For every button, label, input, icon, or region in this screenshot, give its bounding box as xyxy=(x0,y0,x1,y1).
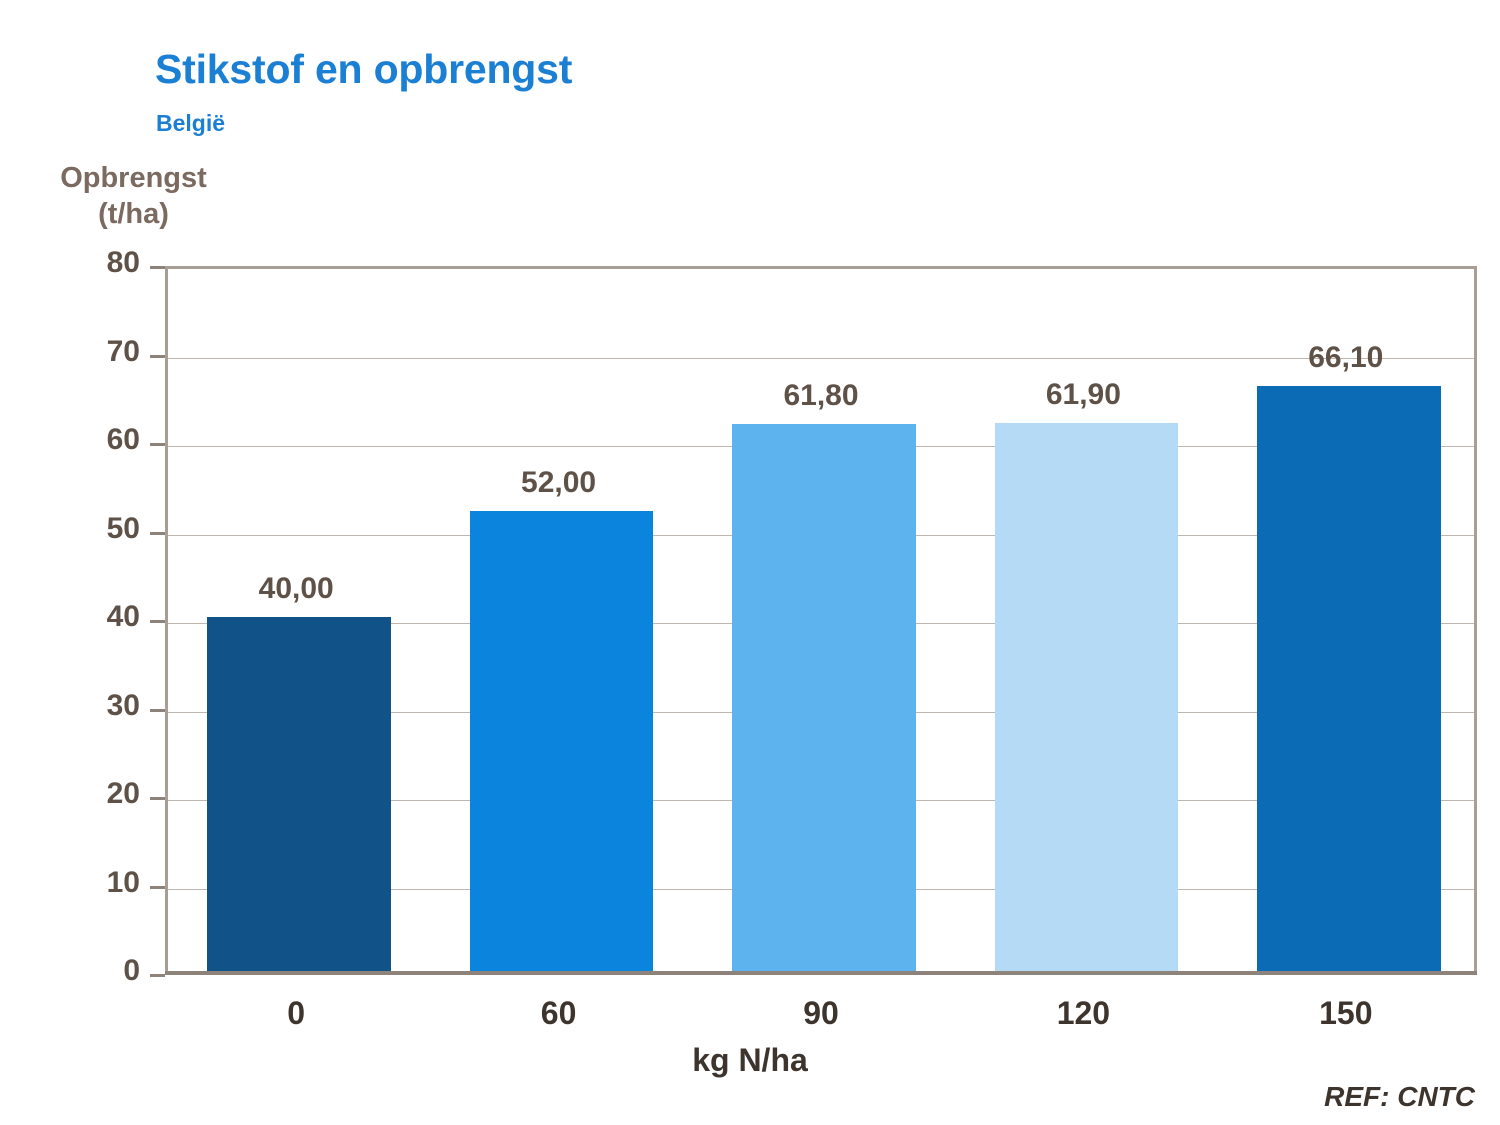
y-tick-mark xyxy=(150,443,165,446)
bar-value-label: 40,00 xyxy=(165,572,427,606)
bar xyxy=(207,617,391,971)
y-tick-label: 40 xyxy=(30,600,140,634)
reference-note: REF: CNTC xyxy=(1324,1081,1475,1113)
y-tick-mark xyxy=(150,355,165,358)
x-tick-label: 150 xyxy=(1215,995,1477,1032)
bar xyxy=(470,511,654,971)
x-tick-label: 90 xyxy=(690,995,952,1032)
x-axis-label: kg N/ha xyxy=(0,1042,1500,1079)
y-tick-mark xyxy=(150,797,165,800)
bar xyxy=(732,424,916,971)
y-axis-label-line2: (t/ha) xyxy=(36,196,231,232)
x-axis-line xyxy=(165,971,1477,975)
y-axis-label: Opbrengst (t/ha) xyxy=(36,160,231,232)
y-tick-mark xyxy=(150,266,165,269)
y-tick-label: 30 xyxy=(30,689,140,723)
bar-value-label: 52,00 xyxy=(427,466,689,500)
y-tick-label: 70 xyxy=(30,335,140,369)
y-tick-mark xyxy=(150,886,165,889)
chart-subtitle: België xyxy=(156,110,225,137)
x-tick-label: 60 xyxy=(427,995,689,1032)
y-tick-mark xyxy=(150,532,165,535)
bar-value-label: 66,10 xyxy=(1215,341,1477,375)
y-tick-label: 10 xyxy=(30,866,140,900)
bar-value-label: 61,80 xyxy=(690,379,952,413)
y-tick-mark xyxy=(150,974,165,977)
bar xyxy=(1257,386,1441,971)
y-tick-label: 50 xyxy=(30,512,140,546)
x-axis-ticks: 06090120150 xyxy=(0,995,1500,1035)
y-tick-mark xyxy=(150,620,165,623)
y-tick-label: 80 xyxy=(30,246,140,280)
x-tick-label: 120 xyxy=(952,995,1214,1032)
y-tick-label: 0 xyxy=(30,954,140,988)
bar-value-label: 61,90 xyxy=(952,378,1214,412)
y-tick-label: 60 xyxy=(30,423,140,457)
x-tick-label: 0 xyxy=(165,995,427,1032)
bar xyxy=(995,423,1179,971)
y-axis-label-line1: Opbrengst xyxy=(36,160,231,196)
chart-title: Stikstof en opbrengst xyxy=(155,46,572,93)
y-tick-label: 20 xyxy=(30,777,140,811)
y-tick-mark xyxy=(150,709,165,712)
